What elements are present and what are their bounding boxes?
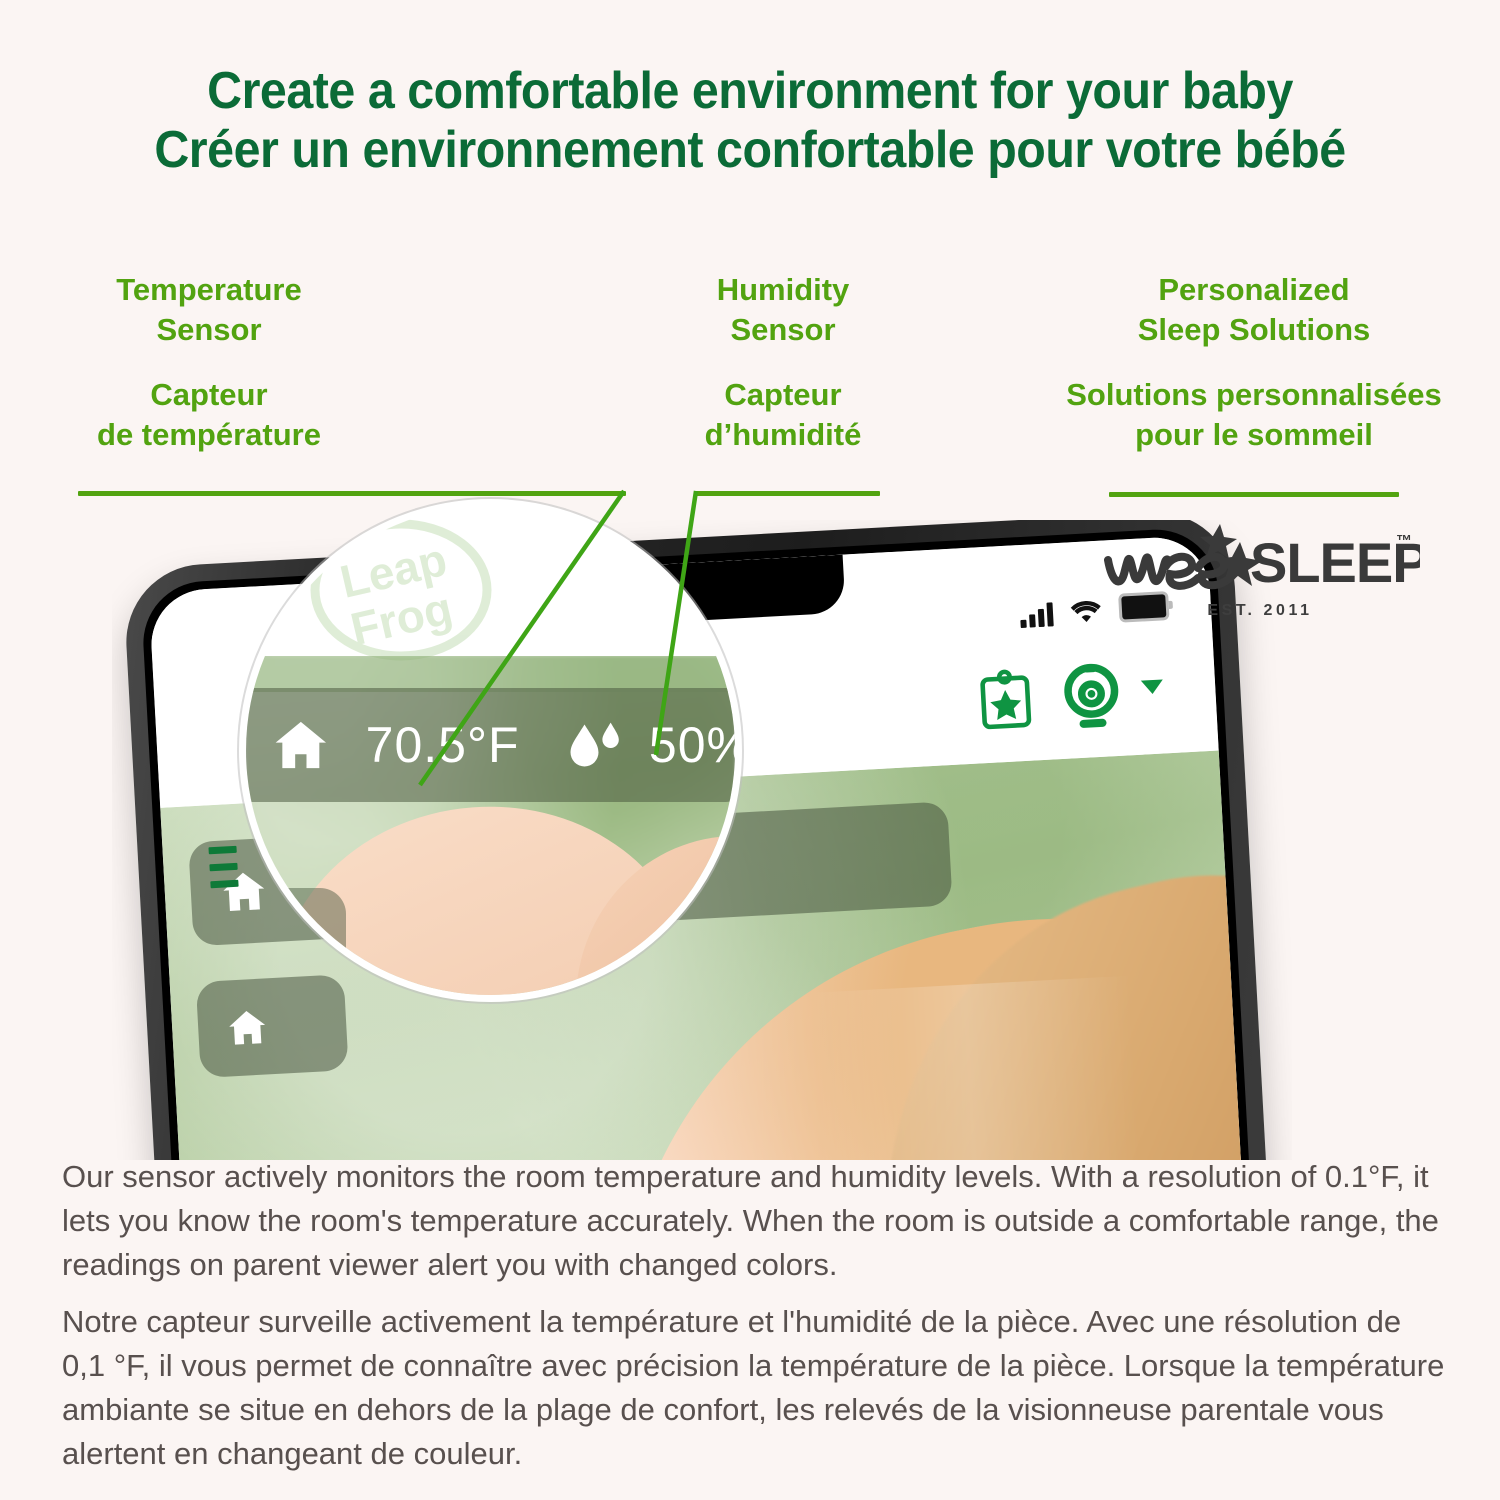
magnified-video-band: [246, 656, 735, 692]
signal-bars-icon: [1019, 602, 1053, 628]
description-paragraph-fr: Notre capteur surveille activement la te…: [62, 1300, 1452, 1476]
feature-label-sleep-solutions: Personalized Sleep Solutions Solutions p…: [1034, 270, 1474, 455]
logo-block-word: SLEEP: [1250, 531, 1420, 594]
description-paragraph-en: Our sensor actively monitors the room te…: [62, 1155, 1452, 1287]
house-icon-magnified: [270, 712, 332, 778]
magnified-humidity-value: 50%: [649, 716, 742, 774]
feature-sleep-fr: Solutions personnalisées pour le sommeil: [1034, 375, 1474, 456]
underline-sleep-solutions: [1109, 492, 1399, 497]
feature-temperature-fr: Capteur de température: [44, 375, 374, 456]
magnified-temperature-value: 70.5°F: [366, 716, 520, 774]
headline-fr: Créer un environnement confortable pour …: [53, 121, 1448, 180]
house-icon-secondary: [223, 1004, 271, 1050]
page-title: Create a comfortable environment for you…: [0, 62, 1500, 181]
camera-icon[interactable]: [1060, 658, 1124, 733]
chevron-down-icon[interactable]: [1141, 679, 1164, 694]
magnified-readout-secondary: [239, 888, 346, 988]
magnified-readout-bar: 70.5°F 50%: [239, 688, 742, 802]
star-badge-icon[interactable]: [978, 668, 1033, 733]
logo-trademark: ™: [1396, 533, 1412, 550]
logo-established: EST. 2011: [1100, 602, 1420, 620]
infographic-canvas: Create a comfortable environment for you…: [0, 0, 1500, 1500]
wifi-icon: [1068, 598, 1103, 626]
underline-humidity: [694, 491, 880, 496]
feature-label-humidity: Humidity Sensor Capteur d’humidité: [638, 270, 928, 455]
magnifier-callout: Leap Frog 70.5°F 50%: [239, 499, 742, 1002]
headline-en: Create a comfortable environment for you…: [53, 62, 1448, 121]
feature-temperature-en: Temperature Sensor: [44, 270, 374, 351]
hamburger-menu-icon[interactable]: [208, 846, 239, 898]
app-toolbar[interactable]: [978, 655, 1166, 737]
water-drop-icon-magnified: [564, 710, 627, 780]
screen-glare: [811, 976, 1179, 1160]
feature-humidity-fr: Capteur d’humidité: [638, 375, 928, 456]
underline-temperature: [78, 491, 626, 496]
feature-label-temperature: Temperature Sensor Capteur de températur…: [44, 270, 374, 455]
wee-sleep-logo: SLEEP ™ EST. 2011: [1100, 516, 1420, 626]
feature-humidity-en: Humidity Sensor: [638, 270, 928, 351]
logo-mark: SLEEP ™: [1100, 516, 1420, 608]
magnified-leapfrog-watermark: Leap Frog: [301, 518, 501, 668]
house-icon-secondary-magnified: [278, 913, 332, 963]
feature-sleep-en: Personalized Sleep Solutions: [1034, 270, 1474, 351]
